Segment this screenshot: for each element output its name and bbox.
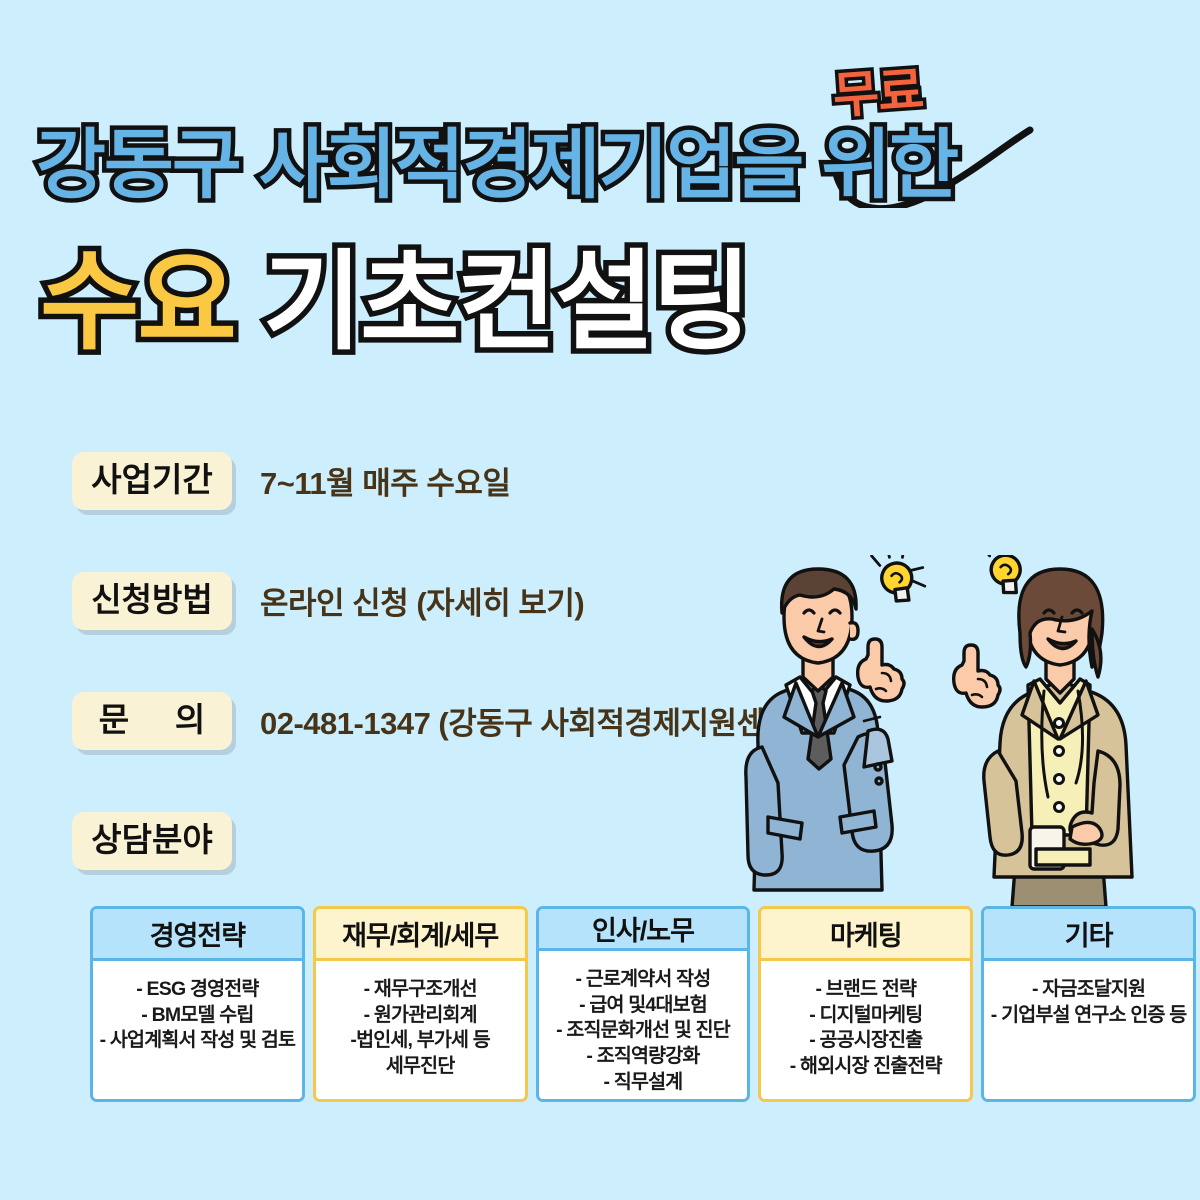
lightbulb-left-icon [870, 555, 932, 607]
card-item: - 해외시장 진출전략 [767, 1054, 964, 1080]
card-item: - 자금조달지원 [990, 977, 1187, 1003]
card-item: - 디지털마케팅 [767, 1003, 964, 1029]
card-item: - 원가관리회계 [322, 1003, 519, 1029]
card-items: - 근로계약서 작성 - 급여 및4대보험 - 조직문화개선 및 진단 - 조직… [539, 951, 748, 1102]
info-value-apply[interactable]: 온라인 신청 (자세히 보기) [260, 578, 584, 623]
headline-title: 수요 기초컨설팅 [40, 248, 750, 356]
card-item: - 사업계획서 작성 및 검토 [99, 1028, 296, 1054]
headline-title-part-b: 기초컨설팅 [263, 241, 750, 362]
info-value-period: 7~11월 매주 수요일 [260, 458, 510, 503]
card-finance-accounting-tax[interactable]: 재무/회계/세무 - 재무구조개선 - 원가관리회계 -법인세, 부가세 등 세… [313, 906, 528, 1102]
card-title: 마케팅 [761, 909, 970, 961]
consulting-illustration [700, 555, 1200, 925]
headline-subtitle: 강동구 사회적경제기업을 위한 [36, 128, 957, 204]
consulting-fields-cards: 경영전략 - ESG 경영전략 - BM모델 수립 - 사업계획서 작성 및 검… [90, 906, 1196, 1102]
card-item: - ESG 경영전략 [99, 977, 296, 1003]
info-label-apply: 신청방법 [72, 572, 232, 630]
card-item: 세무진단 [322, 1054, 519, 1080]
card-title: 기타 [984, 909, 1193, 961]
card-item: - 조직문화개선 및 진단 [545, 1018, 742, 1044]
card-items: - 재무구조개선 - 원가관리회계 -법인세, 부가세 등 세무진단 [316, 961, 525, 1099]
info-row-apply: 신청방법 온라인 신청 (자세히 보기) [72, 572, 584, 630]
poster-canvas: 무료 강동구 사회적경제기업을 위한 수요 기초컨설팅 사업기간 7~11월 매… [0, 0, 1200, 1200]
info-row-fields: 상담분야 [72, 812, 232, 870]
headline-title-part-a: 수요 [40, 241, 235, 362]
card-marketing[interactable]: 마케팅 - 브랜드 전략 - 디지털마케팅 - 공공시장진출 - 해외시장 진출… [758, 906, 973, 1102]
card-items: - ESG 경영전략 - BM모델 수립 - 사업계획서 작성 및 검토 [93, 961, 302, 1099]
card-items: - 브랜드 전략 - 디지털마케팅 - 공공시장진출 - 해외시장 진출전략 [761, 961, 970, 1099]
card-other[interactable]: 기타 - 자금조달지원 - 기업부설 연구소 인증 등 [981, 906, 1196, 1102]
info-row-period: 사업기간 7~11월 매주 수요일 [72, 452, 510, 510]
card-item: - 근로계약서 작성 [545, 967, 742, 993]
card-item: - 급여 및4대보험 [545, 993, 742, 1019]
card-item: - BM모델 수립 [99, 1003, 296, 1029]
free-badge: 무료 [831, 65, 924, 121]
card-item: - 브랜드 전략 [767, 977, 964, 1003]
woman-figure [954, 569, 1132, 907]
card-item: - 직무설계 [545, 1070, 742, 1096]
card-management-strategy[interactable]: 경영전략 - ESG 경영전략 - BM모델 수립 - 사업계획서 작성 및 검… [90, 906, 305, 1102]
info-label-fields: 상담분야 [72, 812, 232, 870]
info-label-period: 사업기간 [72, 452, 232, 510]
info-label-contact: 문 의 [72, 692, 232, 750]
card-title: 경영전략 [93, 909, 302, 961]
card-title: 인사/노무 [539, 909, 748, 951]
card-item: - 재무구조개선 [322, 977, 519, 1003]
card-item: -법인세, 부가세 등 [322, 1028, 519, 1054]
card-hr-labor[interactable]: 인사/노무 - 근로계약서 작성 - 급여 및4대보험 - 조직문화개선 및 진… [536, 906, 751, 1102]
card-item: - 공공시장진출 [767, 1028, 964, 1054]
info-row-contact: 문 의 02-481-1347 (강동구 사회적경제지원센터) [72, 692, 802, 750]
man-figure [746, 569, 904, 890]
card-items: - 자금조달지원 - 기업부설 연구소 인증 등 [984, 961, 1193, 1099]
card-item: - 조직역량강화 [545, 1044, 742, 1070]
card-item: - 기업부설 연구소 인증 등 [990, 1003, 1187, 1029]
card-title: 재무/회계/세무 [316, 909, 525, 961]
